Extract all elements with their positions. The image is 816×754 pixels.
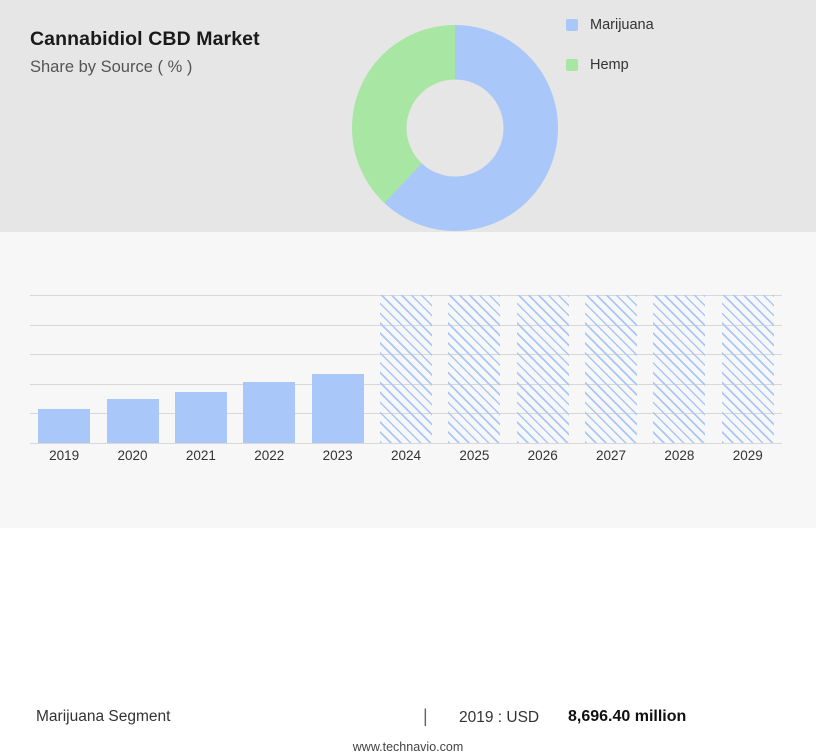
- footer-value: 8,696.40 million: [568, 708, 686, 726]
- chart-page: Cannabidiol CBD Market Share by Source (…: [0, 0, 816, 528]
- x-axis-labels: 2019202020212022202320242025202620272028…: [30, 448, 782, 463]
- bar-forecast[interactable]: [380, 295, 432, 443]
- bar-series: [30, 295, 782, 443]
- bar-cell: [714, 295, 782, 443]
- bar-cell: [372, 295, 440, 443]
- bar-actual[interactable]: [175, 392, 227, 443]
- bar-cell: [509, 295, 577, 443]
- bar-cell: [30, 295, 98, 443]
- x-axis-tick: 2024: [372, 448, 440, 463]
- gridline: [30, 443, 782, 444]
- bar-cell: [440, 295, 508, 443]
- bar-cell: [577, 295, 645, 443]
- x-axis-tick: 2021: [167, 448, 235, 463]
- bar-actual[interactable]: [243, 382, 295, 443]
- bar-forecast[interactable]: [653, 295, 705, 443]
- x-axis-tick: 2027: [577, 448, 645, 463]
- bar-actual[interactable]: [38, 409, 90, 443]
- title-block: Cannabidiol CBD Market Share by Source (…: [30, 28, 360, 77]
- bar-cell: [303, 295, 371, 443]
- donut-panel: Cannabidiol CBD Market Share by Source (…: [0, 0, 816, 232]
- x-axis-tick: 2020: [98, 448, 166, 463]
- donut-chart: [352, 25, 558, 231]
- bar-cell: [98, 295, 166, 443]
- x-axis-tick: 2028: [645, 448, 713, 463]
- bar-cell: [167, 295, 235, 443]
- x-axis-tick: 2023: [303, 448, 371, 463]
- bar-actual[interactable]: [107, 399, 159, 443]
- page-subtitle: Share by Source ( % ): [30, 58, 360, 77]
- bar-forecast[interactable]: [722, 295, 774, 443]
- footer-year-label: 2019 : USD: [459, 709, 539, 727]
- footer-divider: |: [423, 706, 428, 727]
- bar-cell: [645, 295, 713, 443]
- x-axis-tick: 2022: [235, 448, 303, 463]
- page-title: Cannabidiol CBD Market: [30, 28, 360, 50]
- x-axis-tick: 2019: [30, 448, 98, 463]
- bar-actual[interactable]: [312, 374, 364, 443]
- legend-swatch-marijuana: [566, 19, 578, 31]
- source-url[interactable]: www.technavio.com: [0, 740, 816, 754]
- legend-swatch-hemp: [566, 59, 578, 71]
- legend-item-hemp[interactable]: Hemp: [566, 54, 654, 76]
- legend-label-marijuana: Marijuana: [590, 17, 654, 33]
- bar-forecast[interactable]: [448, 295, 500, 443]
- legend: Marijuana Hemp: [566, 14, 654, 94]
- footer: Marijuana Segment | 2019 : USD 8,696.40 …: [0, 708, 816, 738]
- legend-item-marijuana[interactable]: Marijuana: [566, 14, 654, 36]
- bar-chart-plot: [30, 295, 782, 443]
- donut-hole: [407, 80, 504, 177]
- bar-forecast[interactable]: [585, 295, 637, 443]
- x-axis-tick: 2029: [714, 448, 782, 463]
- bar-forecast[interactable]: [517, 295, 569, 443]
- x-axis-tick: 2026: [509, 448, 577, 463]
- footer-segment-label: Marijuana Segment: [36, 708, 170, 726]
- x-axis-tick: 2025: [440, 448, 508, 463]
- bar-panel: 2019202020212022202320242025202620272028…: [0, 232, 816, 528]
- legend-label-hemp: Hemp: [590, 57, 629, 73]
- bar-cell: [235, 295, 303, 443]
